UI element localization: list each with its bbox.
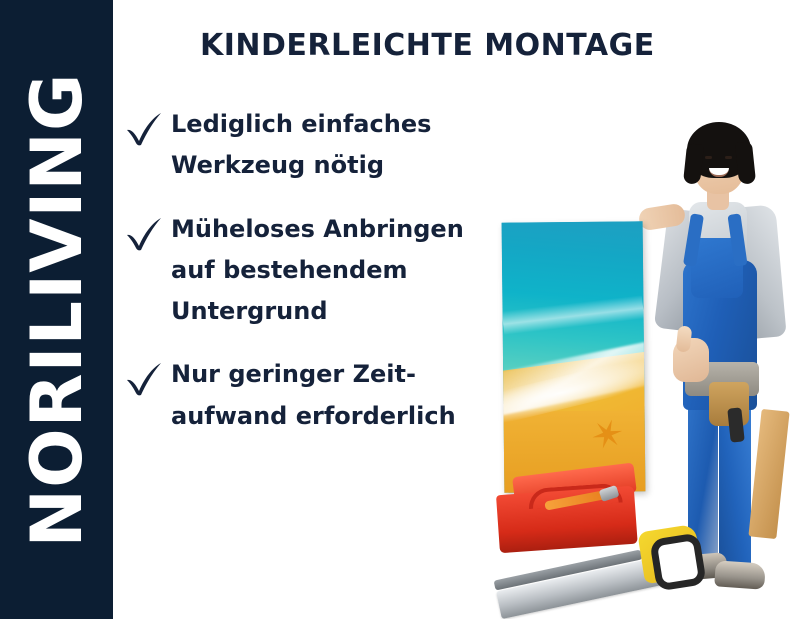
list-item-label: Nur geringer Zeit-aufwand erforderlich — [171, 354, 491, 437]
check-icon — [123, 213, 165, 253]
red-toolbox — [490, 457, 656, 558]
promo-banner: NORILIVING KINDERLEICHTE MONTAGE Ledigli… — [0, 0, 799, 619]
check-icon — [123, 108, 165, 148]
wooden-plank — [748, 409, 789, 539]
list-item-label: Müheloses Anbringen auf bestehendem Unte… — [171, 209, 491, 333]
worker-eye-right — [725, 156, 732, 159]
canvas-print-beach: ✶ — [502, 221, 646, 492]
worker-eye-left — [705, 156, 712, 159]
product-photo: ✶ — [493, 110, 799, 619]
list-item: Nur geringer Zeit-aufwand erforderlich — [123, 354, 523, 437]
list-item: Müheloses Anbringen auf bestehendem Unte… — [123, 209, 523, 333]
brand-wordmark: NORILIVING — [22, 72, 92, 547]
list-item-label: Lediglich einfaches Werkzeug nötig — [171, 104, 491, 187]
content-area: KINDERLEICHTE MONTAGE Lediglich einfache… — [113, 0, 799, 619]
check-icon — [123, 358, 165, 398]
saw-grip — [649, 532, 707, 591]
worker-hair-right — [735, 141, 756, 185]
list-item: Lediglich einfaches Werkzeug nötig — [123, 104, 523, 187]
brand-band: NORILIVING — [0, 0, 113, 619]
benefit-list: Lediglich einfaches Werkzeug nötig Mühel… — [123, 104, 523, 459]
page-title: KINDERLEICHTE MONTAGE — [200, 28, 655, 63]
worker-shoe-right — [714, 560, 766, 589]
